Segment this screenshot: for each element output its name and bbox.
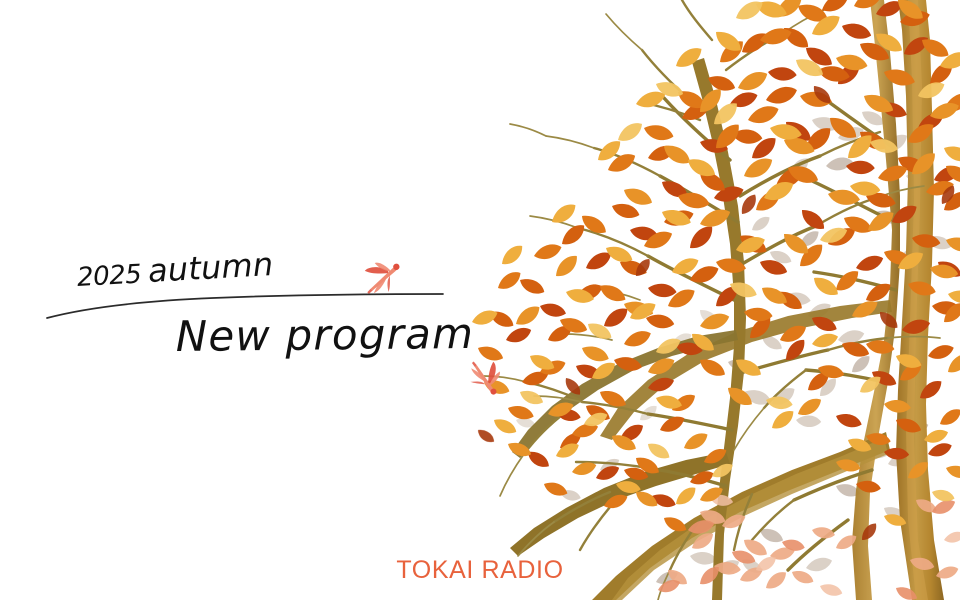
dragonfly-lower [464,356,508,400]
banner-canvas: 2025autumn New program [0,0,960,600]
tokai-radio-logo: TOKAI RADIO [0,556,960,585]
year-season-heading: 2025autumn [76,245,274,294]
subtitle-heading: New program [175,309,474,361]
season-text: autumn [147,245,274,290]
dragonfly-upper [360,256,406,298]
